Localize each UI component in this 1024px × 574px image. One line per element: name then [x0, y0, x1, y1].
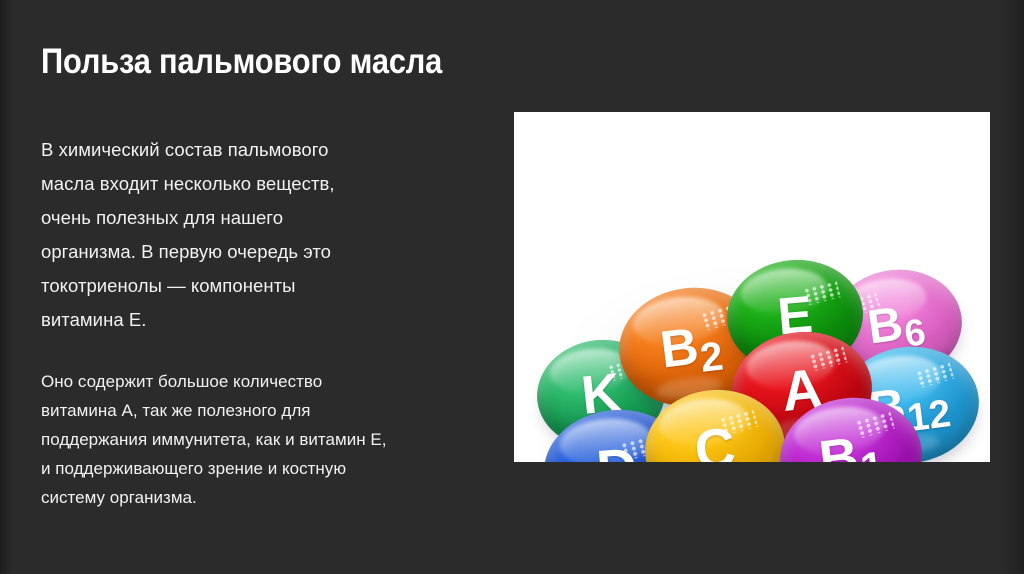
slide: Польза пальмового масла В химический сос…	[0, 0, 1024, 574]
pill-label: C	[692, 419, 738, 462]
body-text-column: В химический состав пальмового масла вхо…	[41, 133, 471, 512]
paragraph-2: Оно содержит большое количество витамина…	[41, 367, 471, 512]
pill-label: B2	[658, 317, 725, 376]
vitamin-pill-cluster: KB2EB6AB12DCB1	[514, 112, 990, 462]
page-title: Польза пальмового масла	[41, 44, 442, 81]
pill-label-subscript: 2	[697, 332, 725, 380]
pill-label: B6	[865, 297, 927, 352]
pill-label-subscript: 1	[858, 442, 887, 462]
paragraph-1: В химический состав пальмового масла вхо…	[41, 133, 471, 337]
pill-label: D	[594, 439, 639, 462]
pill-label: B1	[816, 426, 885, 462]
vitamin-image-panel: KB2EB6AB12DCB1	[514, 112, 990, 462]
